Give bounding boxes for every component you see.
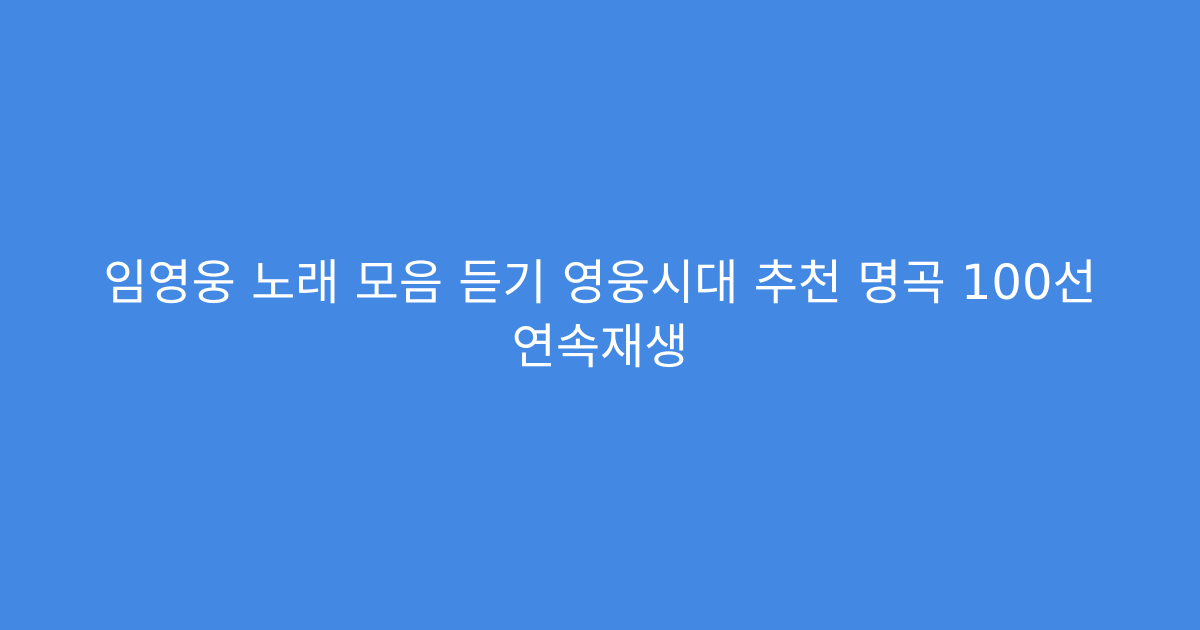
- banner-content: 임영웅 노래 모음 듣기 영웅시대 추천 명곡 100선 연속재생: [70, 251, 1130, 380]
- page-title: 임영웅 노래 모음 듣기 영웅시대 추천 명곡 100선 연속재생: [70, 251, 1130, 380]
- og-banner: 임영웅 노래 모음 듣기 영웅시대 추천 명곡 100선 연속재생: [0, 0, 1200, 630]
